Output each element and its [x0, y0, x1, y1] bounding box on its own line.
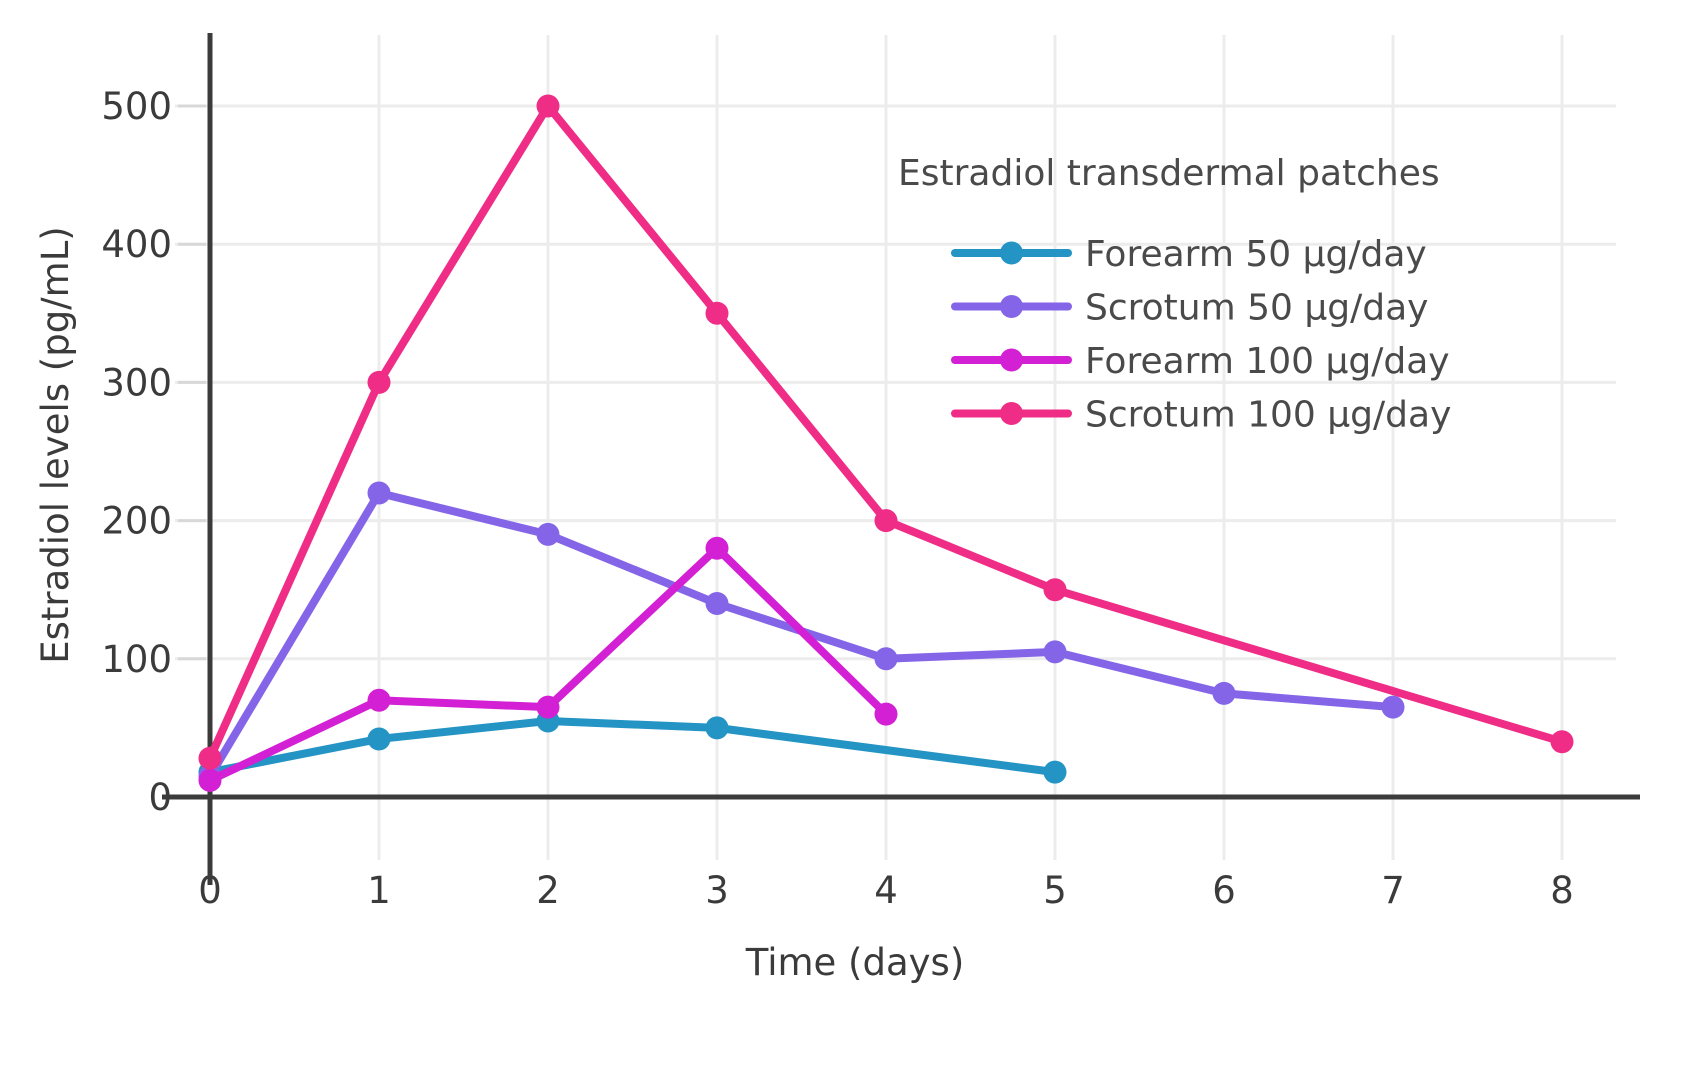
legend-swatch-marker — [1000, 349, 1023, 372]
data-point — [368, 371, 391, 394]
data-point — [706, 302, 729, 325]
legend: Estradiol transdermal patches Forearm 50… — [898, 153, 1451, 436]
legend-item-1[interactable]: Scrotum 50 µg/day — [955, 288, 1428, 329]
x-tick-labels: 012345678 — [198, 869, 1574, 912]
data-point — [1044, 640, 1067, 663]
data-point — [875, 703, 898, 726]
x-tick-label: 7 — [1381, 869, 1405, 912]
y-tick-label: 400 — [101, 223, 172, 266]
legend-item-2[interactable]: Forearm 100 µg/day — [955, 341, 1450, 382]
legend-swatch-marker — [1000, 402, 1023, 425]
y-tick-label: 0 — [148, 776, 172, 819]
data-point — [1044, 761, 1067, 784]
y-tick-label: 300 — [101, 361, 172, 404]
data-point — [368, 481, 391, 504]
x-axis-title: Time (days) — [745, 941, 965, 984]
y-tick-label: 200 — [101, 500, 172, 543]
data-point — [368, 727, 391, 750]
x-tick-label: 5 — [1043, 869, 1067, 912]
legend-item-label: Scrotum 100 µg/day — [1085, 395, 1451, 436]
line-chart: 0100200300400500 012345678 Estradiol lev… — [0, 0, 1681, 1090]
x-tick-label: 4 — [874, 869, 898, 912]
legend-item-3[interactable]: Scrotum 100 µg/day — [955, 395, 1451, 436]
data-point — [199, 747, 222, 770]
data-point — [706, 592, 729, 615]
data-point — [537, 523, 560, 546]
series-line — [210, 721, 1055, 772]
legend-swatch-marker — [1000, 295, 1023, 318]
legend-item-label: Scrotum 50 µg/day — [1085, 288, 1428, 329]
data-point — [1044, 578, 1067, 601]
legend-title: Estradiol transdermal patches — [898, 153, 1440, 194]
y-tick-labels: 0100200300400500 — [101, 85, 206, 819]
x-tick-label: 8 — [1550, 869, 1574, 912]
x-tick-label: 0 — [198, 869, 222, 912]
x-tick-label: 1 — [367, 869, 391, 912]
data-point — [875, 509, 898, 532]
data-point — [199, 769, 222, 792]
x-tick-label: 3 — [705, 869, 729, 912]
chart-root: 0100200300400500 012345678 Estradiol lev… — [0, 0, 1681, 1090]
data-point — [1551, 730, 1574, 753]
y-tick-label: 500 — [101, 85, 172, 128]
data-point — [368, 689, 391, 712]
legend-swatch-marker — [1000, 242, 1023, 265]
data-point — [706, 537, 729, 560]
y-tick-label: 100 — [101, 638, 172, 681]
legend-item-0[interactable]: Forearm 50 µg/day — [955, 234, 1427, 275]
data-point — [1382, 696, 1405, 719]
data-point — [537, 95, 560, 118]
x-tick-label: 6 — [1212, 869, 1236, 912]
legend-entries: Forearm 50 µg/dayScrotum 50 µg/dayForear… — [955, 234, 1451, 436]
legend-item-label: Forearm 100 µg/day — [1085, 341, 1450, 382]
x-tick-label: 2 — [536, 869, 560, 912]
data-point — [537, 696, 560, 719]
data-point — [875, 647, 898, 670]
y-axis-title: Estradiol levels (pg/mL) — [34, 226, 77, 663]
data-point — [1213, 682, 1236, 705]
legend-item-label: Forearm 50 µg/day — [1085, 234, 1427, 275]
data-point — [706, 716, 729, 739]
